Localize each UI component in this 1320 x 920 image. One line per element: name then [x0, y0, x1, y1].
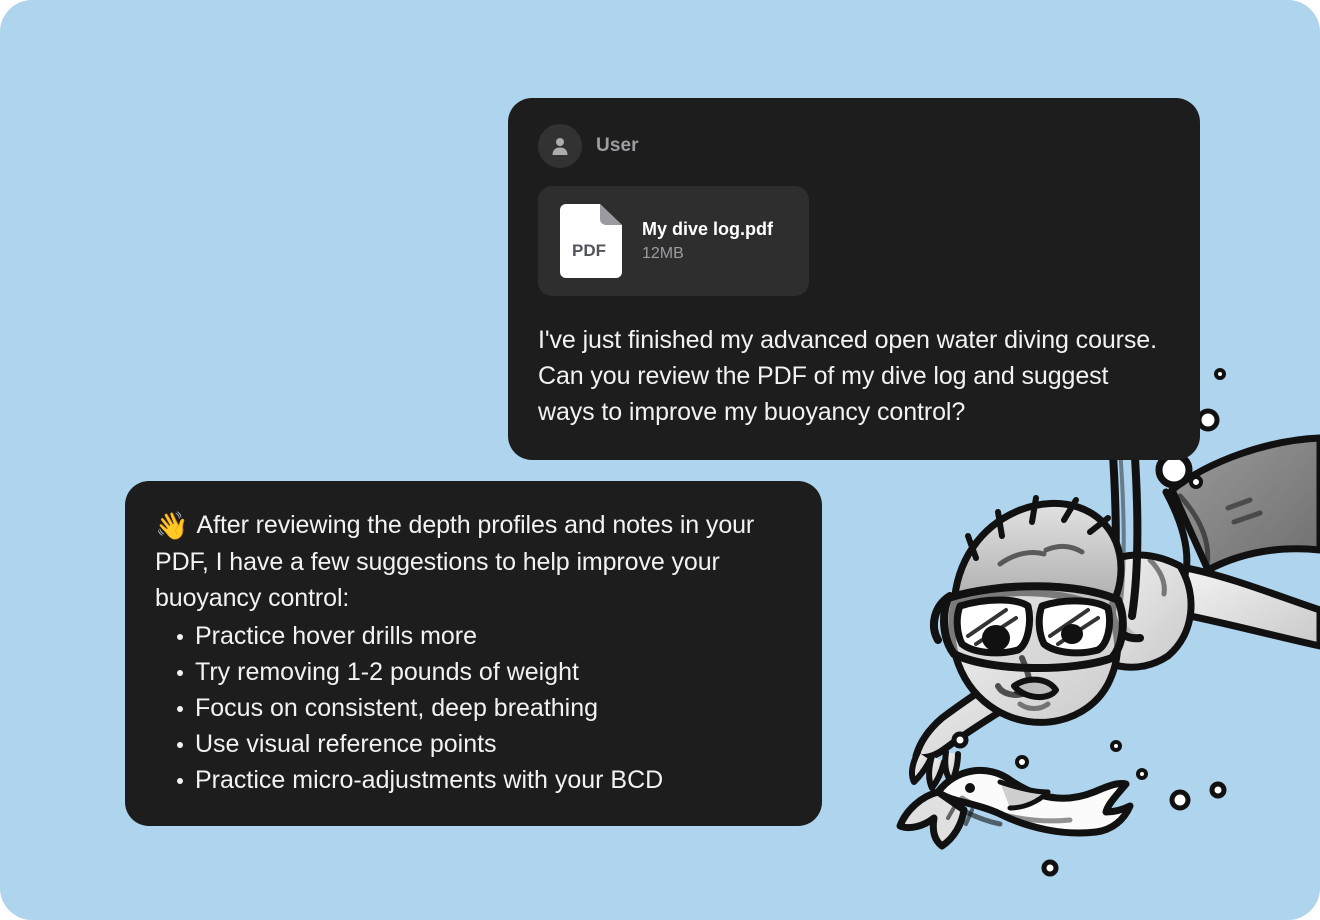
- waving-hand-emoji: 👋: [155, 511, 189, 541]
- suggestion-list: Practice hover drills moreTry removing 1…: [155, 618, 794, 798]
- assistant-message-bubble: 👋After reviewing the depth profiles and …: [125, 481, 822, 826]
- suggestion-list-item: Try removing 1-2 pounds of weight: [155, 654, 794, 690]
- assistant-message-intro: 👋After reviewing the depth profiles and …: [155, 507, 794, 616]
- attachment-file-size: 12MB: [642, 245, 773, 263]
- suggestion-list-item: Use visual reference points: [155, 726, 794, 762]
- suggestion-list-item: Focus on consistent, deep breathing: [155, 690, 794, 726]
- suggestion-list-item: Practice hover drills more: [155, 618, 794, 654]
- message-author-name: User: [596, 135, 639, 157]
- user-message-text: I've just finished my advanced open wate…: [538, 322, 1170, 430]
- pdf-file-icon: PDF: [560, 204, 622, 278]
- assistant-intro-text: After reviewing the depth profiles and n…: [155, 511, 754, 612]
- person-avatar-icon: [538, 124, 582, 168]
- pdf-icon-label: PDF: [572, 241, 606, 260]
- attachment-card[interactable]: PDF My dive log.pdf 12MB: [538, 186, 809, 296]
- user-message-bubble: User PDF My dive log.pdf 12MB I've just …: [508, 98, 1200, 460]
- screenshot-canvas: User PDF My dive log.pdf 12MB I've just …: [0, 0, 1320, 920]
- suggestion-list-item: Practice micro-adjustments with your BCD: [155, 762, 794, 798]
- attachment-file-name: My dive log.pdf: [642, 219, 773, 240]
- user-message-header: User: [538, 124, 1170, 168]
